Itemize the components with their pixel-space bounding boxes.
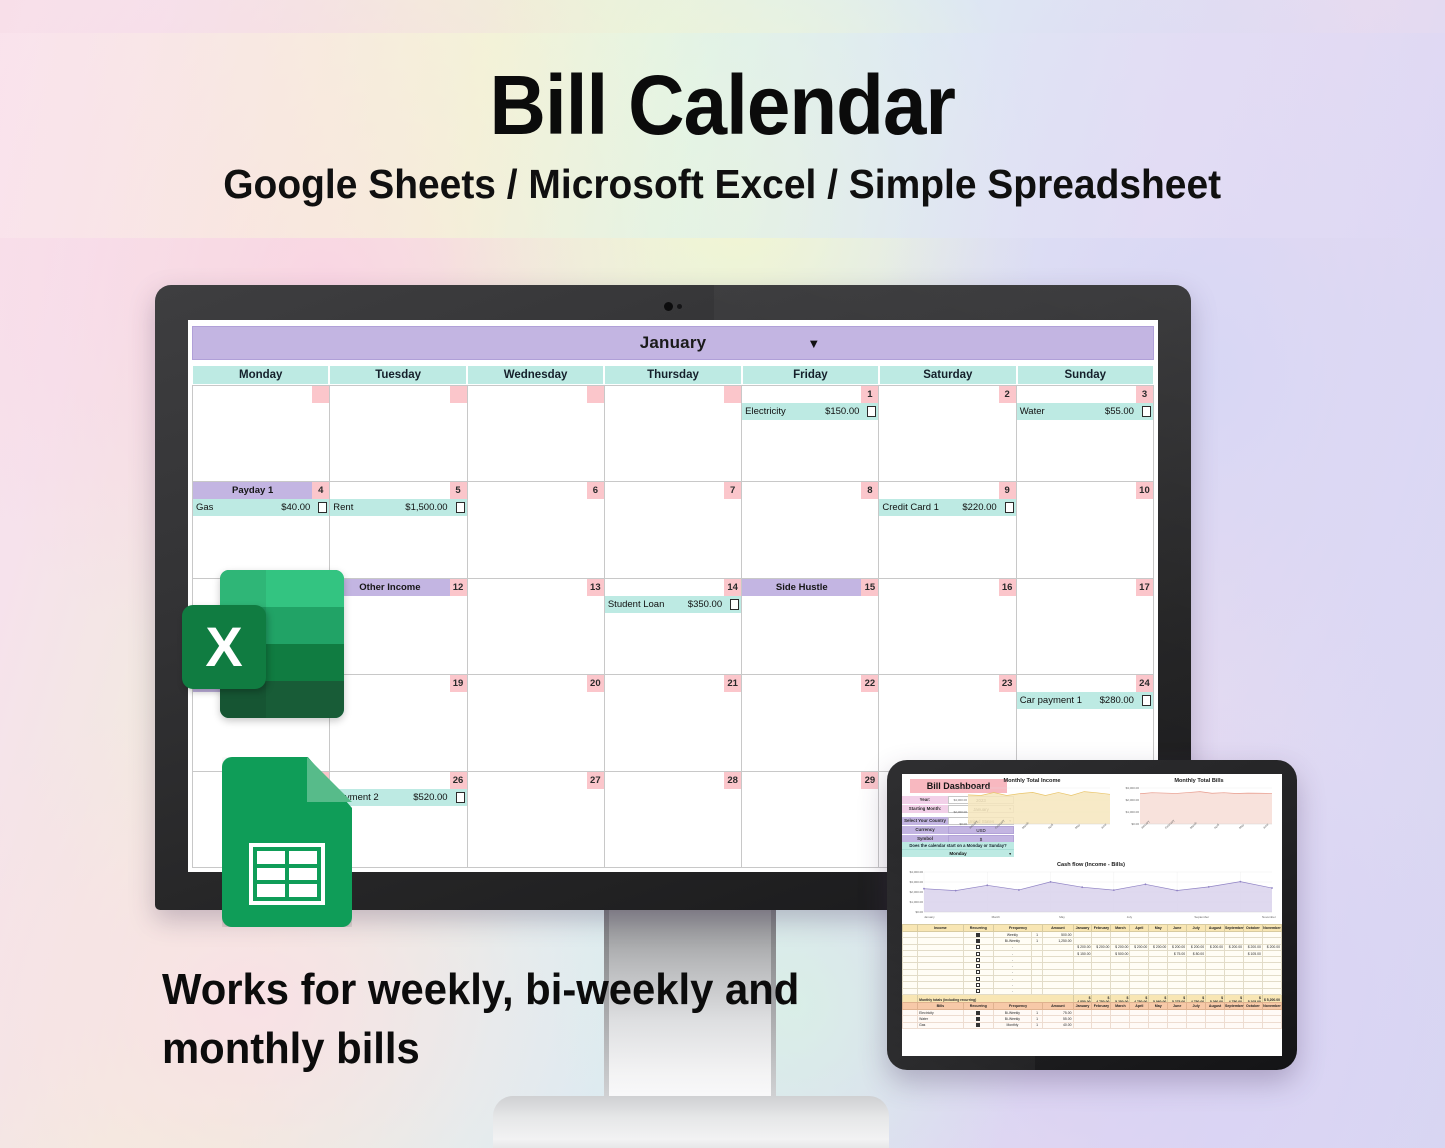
- checkbox-icon[interactable]: [976, 1023, 980, 1027]
- income-event[interactable]: Other Income: [330, 579, 449, 596]
- row-marker-header: [903, 925, 918, 932]
- day-number: [724, 386, 741, 403]
- day-number: 1: [861, 386, 878, 403]
- month-amount-cell[interactable]: [1168, 1022, 1187, 1028]
- month-amount-cell[interactable]: [1206, 1022, 1225, 1028]
- bill-amount: $1,500.00: [405, 502, 447, 513]
- webcam-icon: [664, 302, 682, 311]
- month-amount-cell[interactable]: [1092, 1022, 1111, 1028]
- calendar-day-cell[interactable]: [605, 386, 742, 481]
- chart-plot-area: $4,000.00$3,000.00$2,000.00$1,000.00$0.0…: [908, 870, 1274, 914]
- day-header-saturday: Saturday: [879, 365, 1016, 385]
- calendar-day-cell[interactable]: 24Car payment 1$280.00: [1017, 675, 1154, 770]
- month-amount-cell[interactable]: [1073, 1022, 1092, 1028]
- calendar-day-cell[interactable]: 7: [605, 482, 742, 577]
- day-number: 27: [587, 772, 604, 789]
- recurring-checkbox-cell[interactable]: [963, 1022, 993, 1028]
- calendar-day-cell[interactable]: 13: [468, 579, 605, 674]
- column-header-month: May: [1149, 925, 1168, 932]
- calendar-day-cell[interactable]: [330, 386, 467, 481]
- day-number: 9: [999, 482, 1016, 499]
- checkbox-icon[interactable]: [976, 989, 980, 993]
- row-marker-header: [903, 1003, 918, 1010]
- webcam-lens-icon: [664, 302, 673, 311]
- month-amount-cell[interactable]: [1187, 1022, 1206, 1028]
- calendar-start-select[interactable]: Monday ▾: [902, 849, 1014, 857]
- excel-letter: X: [205, 619, 242, 675]
- amount-cell[interactable]: 40.00: [1043, 1022, 1073, 1028]
- y-axis-ticks: $3,000.00$2,000.00$1,000.00$0.00: [1124, 786, 1140, 826]
- bills-data-table: BillsRecurringFrequencyAmountJanuaryFebr…: [902, 1002, 1282, 1029]
- calendar-day-cell[interactable]: 20: [468, 675, 605, 770]
- day-header-monday: Monday: [192, 365, 329, 385]
- column-header-frequency: Frequency: [993, 1003, 1042, 1010]
- checkbox-icon[interactable]: [976, 952, 980, 956]
- tablet-device: Bill Dashboard Year:2023Starting Month:J…: [887, 760, 1297, 1070]
- column-header-income: Income: [918, 925, 963, 932]
- calendar-day-cell[interactable]: Other Income12: [330, 579, 467, 674]
- cash-flow-chart: Cash flow (Income - Bills)$4,000.00$3,00…: [908, 862, 1274, 914]
- sheets-grid-cell: [257, 884, 285, 897]
- calendar-day-cell[interactable]: 9Credit Card 1$220.00: [879, 482, 1016, 577]
- day-of-week-header: MondayTuesdayWednesdayThursdayFridaySatu…: [192, 365, 1154, 385]
- monthly-total-income-chart: Monthly Total Income$6,000.00$4,000.00$2…: [952, 778, 1112, 826]
- settings-label: Select Your Country: [902, 817, 948, 825]
- income-event[interactable]: Payday 1: [193, 482, 312, 499]
- bill-paid-checkbox[interactable]: [1142, 695, 1151, 706]
- column-header-month: June: [1168, 1003, 1187, 1010]
- calendar-start-day-setting: Does the calendar start on a Monday or S…: [902, 842, 1014, 857]
- checkbox-icon[interactable]: [976, 945, 980, 949]
- income-data-table: IncomeRecurringFrequencyAmountJanuaryFeb…: [902, 924, 1282, 1005]
- table-header-row: IncomeRecurringFrequencyAmountJanuaryFeb…: [903, 925, 1282, 932]
- calendar-day-cell[interactable]: 29: [742, 772, 879, 867]
- sheets-grid-cell: [289, 884, 317, 897]
- checkbox-icon[interactable]: [976, 977, 980, 981]
- bill-name: Rent: [333, 502, 353, 513]
- bill-paid-checkbox[interactable]: [456, 502, 465, 513]
- x-axis-ticks: JanuaryFebruaryMarchAprilMayJune: [1140, 826, 1274, 837]
- y-tick-label: $0.00: [915, 910, 923, 914]
- month-label: January: [640, 333, 707, 353]
- month-amount-cell[interactable]: [1149, 1022, 1168, 1028]
- frequency-cell[interactable]: Monthly: [993, 1022, 1031, 1028]
- y-tick-label: $1,000.00: [1126, 810, 1139, 814]
- day-number: [312, 386, 329, 403]
- checkbox-icon[interactable]: [976, 1011, 980, 1015]
- bill-event[interactable]: Rent$1,500.00: [330, 499, 466, 516]
- page-subtitle: Google Sheets / Microsoft Excel / Simple…: [224, 161, 1222, 208]
- day-number: 5: [450, 482, 467, 499]
- settings-label: Currency: [902, 826, 948, 834]
- day-number: 2: [999, 386, 1016, 403]
- calendar-day-cell[interactable]: 10: [1017, 482, 1154, 577]
- day-number: 17: [1136, 579, 1153, 596]
- column-header-month: July: [1187, 925, 1206, 932]
- x-axis-ticks: JanuaryFebruaryMarchAprilMayJune: [968, 826, 1112, 837]
- bill-paid-checkbox[interactable]: [318, 502, 327, 513]
- checkbox-icon[interactable]: [976, 939, 980, 943]
- month-amount-cell[interactable]: [1111, 1022, 1130, 1028]
- bill-name: Car payment 1: [1020, 695, 1082, 706]
- calendar-day-cell[interactable]: 27: [468, 772, 605, 867]
- day-number: 19: [450, 675, 467, 692]
- bill-event[interactable]: Credit Card 1$220.00: [879, 499, 1015, 516]
- y-axis-ticks: $4,000.00$3,000.00$2,000.00$1,000.00$0.0…: [908, 870, 924, 914]
- calendar-day-cell[interactable]: 5Rent$1,500.00: [330, 482, 467, 577]
- sheets-grid-cell: [289, 851, 317, 864]
- day-header-sunday: Sunday: [1017, 365, 1154, 385]
- day-number: 20: [587, 675, 604, 692]
- calendar-day-cell[interactable]: 21: [605, 675, 742, 770]
- calendar-day-cell[interactable]: Side Hustle15: [742, 579, 879, 674]
- column-header-month: November: [1262, 925, 1281, 932]
- chart-title: Monthly Total Income: [952, 778, 1112, 784]
- column-header-month: August: [1206, 1003, 1225, 1010]
- checkbox-icon[interactable]: [976, 933, 980, 937]
- checkbox-icon[interactable]: [976, 983, 980, 987]
- column-header-month: September: [1225, 1003, 1244, 1010]
- settings-label: Starting Month:: [902, 805, 948, 813]
- column-header-frequency: Frequency: [993, 925, 1042, 932]
- column-header-recurring: Recurring: [963, 925, 993, 932]
- checkbox-icon[interactable]: [976, 970, 980, 974]
- day-number: [587, 386, 604, 403]
- day-header-friday: Friday: [742, 365, 879, 385]
- bill-paid-checkbox[interactable]: [730, 599, 739, 610]
- sheets-grid-cell: [257, 851, 285, 864]
- day-number: 21: [724, 675, 741, 692]
- bill-name: Credit Card 1: [882, 502, 939, 513]
- month-amount-cell[interactable]: [1130, 1022, 1149, 1028]
- x-tick-label: November: [1262, 915, 1276, 919]
- column-header-month: November: [1262, 1003, 1281, 1010]
- month-amount-cell[interactable]: [1243, 1022, 1262, 1028]
- day-number: 16: [999, 579, 1016, 596]
- x-tick-label: March: [992, 915, 1000, 919]
- excel-x-tile-icon: X: [182, 605, 266, 689]
- bill-event[interactable]: Car payment 1$280.00: [1017, 692, 1153, 709]
- webcam-led-icon: [677, 304, 682, 309]
- x-tick-label: July: [1127, 915, 1132, 919]
- sheets-grid-cell: [289, 868, 317, 881]
- column-header-bills: Bills: [918, 1003, 963, 1010]
- table-row[interactable]: GasMonthly140.00: [903, 1022, 1282, 1028]
- x-tick-label: April: [1213, 823, 1220, 830]
- bills-table: BillsRecurringFrequencyAmountJanuaryFebr…: [902, 1002, 1282, 1029]
- calendar-day-cell[interactable]: 1Electricity$150.00: [742, 386, 879, 481]
- day-number: 23: [999, 675, 1016, 692]
- month-amount-cell[interactable]: [1262, 1022, 1281, 1028]
- calendar-start-question: Does the calendar start on a Monday or S…: [902, 842, 1014, 849]
- bill-name: Student Loan: [608, 599, 665, 610]
- day-number: 22: [861, 675, 878, 692]
- calendar-day-cell[interactable]: 14Student Loan$350.00: [605, 579, 742, 674]
- bill-amount: $150.00: [825, 406, 859, 417]
- column-header-month: October: [1243, 1003, 1262, 1010]
- column-header-month: August: [1206, 925, 1225, 932]
- calendar-day-cell[interactable]: [468, 386, 605, 481]
- calendar-day-cell[interactable]: 3Water$55.00: [1017, 386, 1154, 481]
- day-number: 15: [861, 579, 878, 596]
- calendar-day-cell[interactable]: [192, 386, 330, 481]
- day-number: 6: [587, 482, 604, 499]
- day-number: 28: [724, 772, 741, 789]
- bill-name: Gas: [196, 502, 213, 513]
- y-tick-label: $0.00: [1131, 822, 1139, 826]
- column-header-month: March: [1111, 925, 1130, 932]
- y-tick-label: $4,000.00: [910, 870, 923, 874]
- calendar-day-cell[interactable]: 2: [879, 386, 1016, 481]
- microsoft-excel-logo: X: [182, 563, 344, 725]
- day-number: 3: [1136, 386, 1153, 403]
- bill-amount: $220.00: [962, 502, 996, 513]
- bill-amount: $280.00: [1100, 695, 1134, 706]
- header-banner: Bill Calendar Google Sheets / Microsoft …: [0, 33, 1445, 238]
- y-tick-label: $3,000.00: [910, 880, 923, 884]
- column-header-month: May: [1149, 1003, 1168, 1010]
- column-header-month: October: [1243, 925, 1262, 932]
- x-tick-label: January: [924, 915, 935, 919]
- bill-name: Electricity: [745, 406, 786, 417]
- day-number: 14: [724, 579, 741, 596]
- chart-title: Cash flow (Income - Bills): [908, 862, 1274, 868]
- day-number: 8: [861, 482, 878, 499]
- calendar-day-cell[interactable]: 17: [1017, 579, 1154, 674]
- checkbox-icon[interactable]: [976, 1017, 980, 1021]
- day-number: 10: [1136, 482, 1153, 499]
- day-number: 13: [587, 579, 604, 596]
- settings-label: Year:: [902, 796, 948, 804]
- google-sheets-logo: [222, 757, 352, 927]
- column-header-month: February: [1092, 925, 1111, 932]
- y-tick-label: $2,000.00: [1126, 798, 1139, 802]
- table-header-row: BillsRecurringFrequencyAmountJanuaryFebr…: [903, 1003, 1282, 1010]
- column-header-month: September: [1225, 925, 1244, 932]
- x-tick-label: April: [1047, 823, 1054, 830]
- column-header-month: January: [1073, 1003, 1092, 1010]
- sheets-table-icon: [249, 843, 325, 905]
- page-title: Bill Calendar: [490, 63, 955, 147]
- bill-event[interactable]: Gas$40.00: [193, 499, 329, 516]
- chart-title: Monthly Total Bills: [1124, 778, 1274, 784]
- bill-paid-checkbox[interactable]: [1005, 502, 1014, 513]
- bill-amount: $520.00: [413, 792, 447, 803]
- bill-paid-checkbox[interactable]: [1142, 406, 1151, 417]
- calendar-day-cell[interactable]: 28: [605, 772, 742, 867]
- day-number: 4: [312, 482, 329, 499]
- column-header-month: February: [1092, 1003, 1111, 1010]
- sheets-folded-corner-icon: [307, 757, 352, 802]
- column-header-month: March: [1111, 1003, 1130, 1010]
- month-selector[interactable]: January ▼: [192, 326, 1154, 360]
- row-marker: [903, 1022, 918, 1028]
- y-tick-label: $3,000.00: [1126, 786, 1139, 790]
- chevron-down-icon[interactable]: ▼: [807, 336, 820, 351]
- y-tick-label: $2,000.00: [954, 810, 967, 814]
- monthly-total-bills-chart: Monthly Total Bills$3,000.00$2,000.00$1,…: [1124, 778, 1274, 826]
- checkbox-icon[interactable]: [976, 958, 980, 962]
- calendar-start-value: Monday: [949, 851, 966, 856]
- bill-paid-checkbox[interactable]: [456, 792, 465, 803]
- column-header-recurring: Recurring: [963, 1003, 993, 1010]
- bill-amount: $55.00: [1105, 406, 1134, 417]
- day-number: 12: [450, 579, 467, 596]
- y-tick-label: $0.00: [959, 822, 967, 826]
- y-tick-label: $2,000.00: [910, 890, 923, 894]
- checkbox-icon[interactable]: [976, 964, 980, 968]
- calendar-week-row: 1Electricity$150.0023Water$55.00: [192, 385, 1154, 482]
- month-amount-cell[interactable]: [1225, 1022, 1244, 1028]
- column-header-month: January: [1073, 925, 1092, 932]
- calendar-day-cell[interactable]: 16: [879, 579, 1016, 674]
- chart-plot-area: $6,000.00$4,000.00$2,000.00$0.00JanuaryF…: [952, 786, 1112, 826]
- bill-event[interactable]: Electricity$150.00: [742, 403, 878, 420]
- y-axis-ticks: $6,000.00$4,000.00$2,000.00$0.00: [952, 786, 968, 826]
- day-header-tuesday: Tuesday: [329, 365, 466, 385]
- bill-dashboard: Bill Dashboard Year:2023Starting Month:J…: [902, 774, 1282, 1056]
- sheets-grid-cell: [257, 868, 285, 881]
- bill-event[interactable]: Water$55.00: [1017, 403, 1153, 420]
- bill-event[interactable]: Student Loan$350.00: [605, 596, 741, 613]
- chart-plot-area: $3,000.00$2,000.00$1,000.00$0.00JanuaryF…: [1124, 786, 1274, 826]
- column-header-amount: Amount: [1043, 1003, 1073, 1010]
- column-header-month: July: [1187, 1003, 1206, 1010]
- day-number: 29: [861, 772, 878, 789]
- day-number: 7: [724, 482, 741, 499]
- chevron-down-icon[interactable]: ▾: [1009, 852, 1011, 856]
- x-tick-label: September: [1194, 915, 1209, 919]
- calendar-day-cell[interactable]: 23: [879, 675, 1016, 770]
- day-header-thursday: Thursday: [604, 365, 741, 385]
- bill-paid-checkbox[interactable]: [867, 406, 876, 417]
- y-tick-label: $1,000.00: [910, 900, 923, 904]
- frequency-count-cell[interactable]: 1: [1031, 1022, 1042, 1028]
- bill-name: Water: [1020, 406, 1045, 417]
- monitor-base: [493, 1096, 889, 1148]
- bill-amount: $40.00: [281, 502, 310, 513]
- column-header-month: June: [1168, 925, 1187, 932]
- column-header-month: April: [1130, 925, 1149, 932]
- y-tick-label: $6,000.00: [954, 786, 967, 790]
- tablet-screen: Bill Dashboard Year:2023Starting Month:J…: [902, 774, 1282, 1056]
- day-number: 26: [450, 772, 467, 789]
- income-table: IncomeRecurringFrequencyAmountJanuaryFeb…: [902, 924, 1282, 1005]
- day-number: 24: [1136, 675, 1153, 692]
- calendar-day-cell[interactable]: 6: [468, 482, 605, 577]
- day-header-wednesday: Wednesday: [467, 365, 604, 385]
- column-header-amount: Amount: [1043, 925, 1073, 932]
- calendar-day-cell[interactable]: 22: [742, 675, 879, 770]
- bill-amount: $350.00: [688, 599, 722, 610]
- tagline: Works for weekly, bi-weekly and monthly …: [162, 960, 884, 1079]
- bill-name-cell[interactable]: Gas: [918, 1022, 963, 1028]
- income-event[interactable]: Side Hustle: [742, 579, 861, 596]
- column-header-month: April: [1130, 1003, 1149, 1010]
- x-tick-label: May: [1059, 915, 1065, 919]
- calendar-day-cell[interactable]: 8: [742, 482, 879, 577]
- y-tick-label: $4,000.00: [954, 798, 967, 802]
- day-number: [450, 386, 467, 403]
